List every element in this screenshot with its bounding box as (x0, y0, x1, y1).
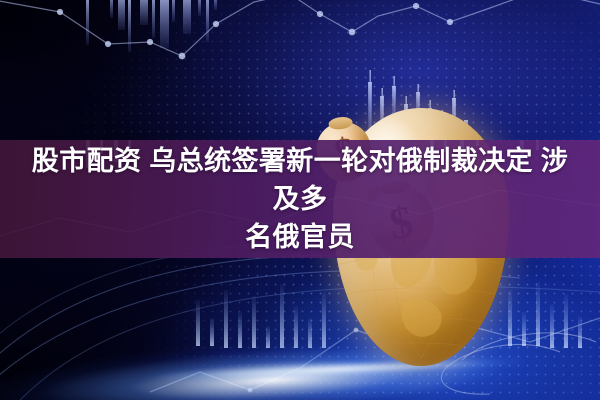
page-title: 股市配资 乌总统签署新一轮对俄制裁决定 涉及多 名俄官员 (20, 142, 580, 257)
headline-band: 股市配资 乌总统签署新一轮对俄制裁决定 涉及多 名俄官员 (0, 140, 600, 258)
news-banner-image: $ $ 股市配资 乌总统签 (0, 0, 600, 400)
line-graph-nodes (0, 0, 600, 56)
headline-line-2: 名俄官员 (20, 218, 580, 256)
headline-line-1: 股市配资 乌总统签署新一轮对俄制裁决定 涉及多 (20, 142, 580, 219)
